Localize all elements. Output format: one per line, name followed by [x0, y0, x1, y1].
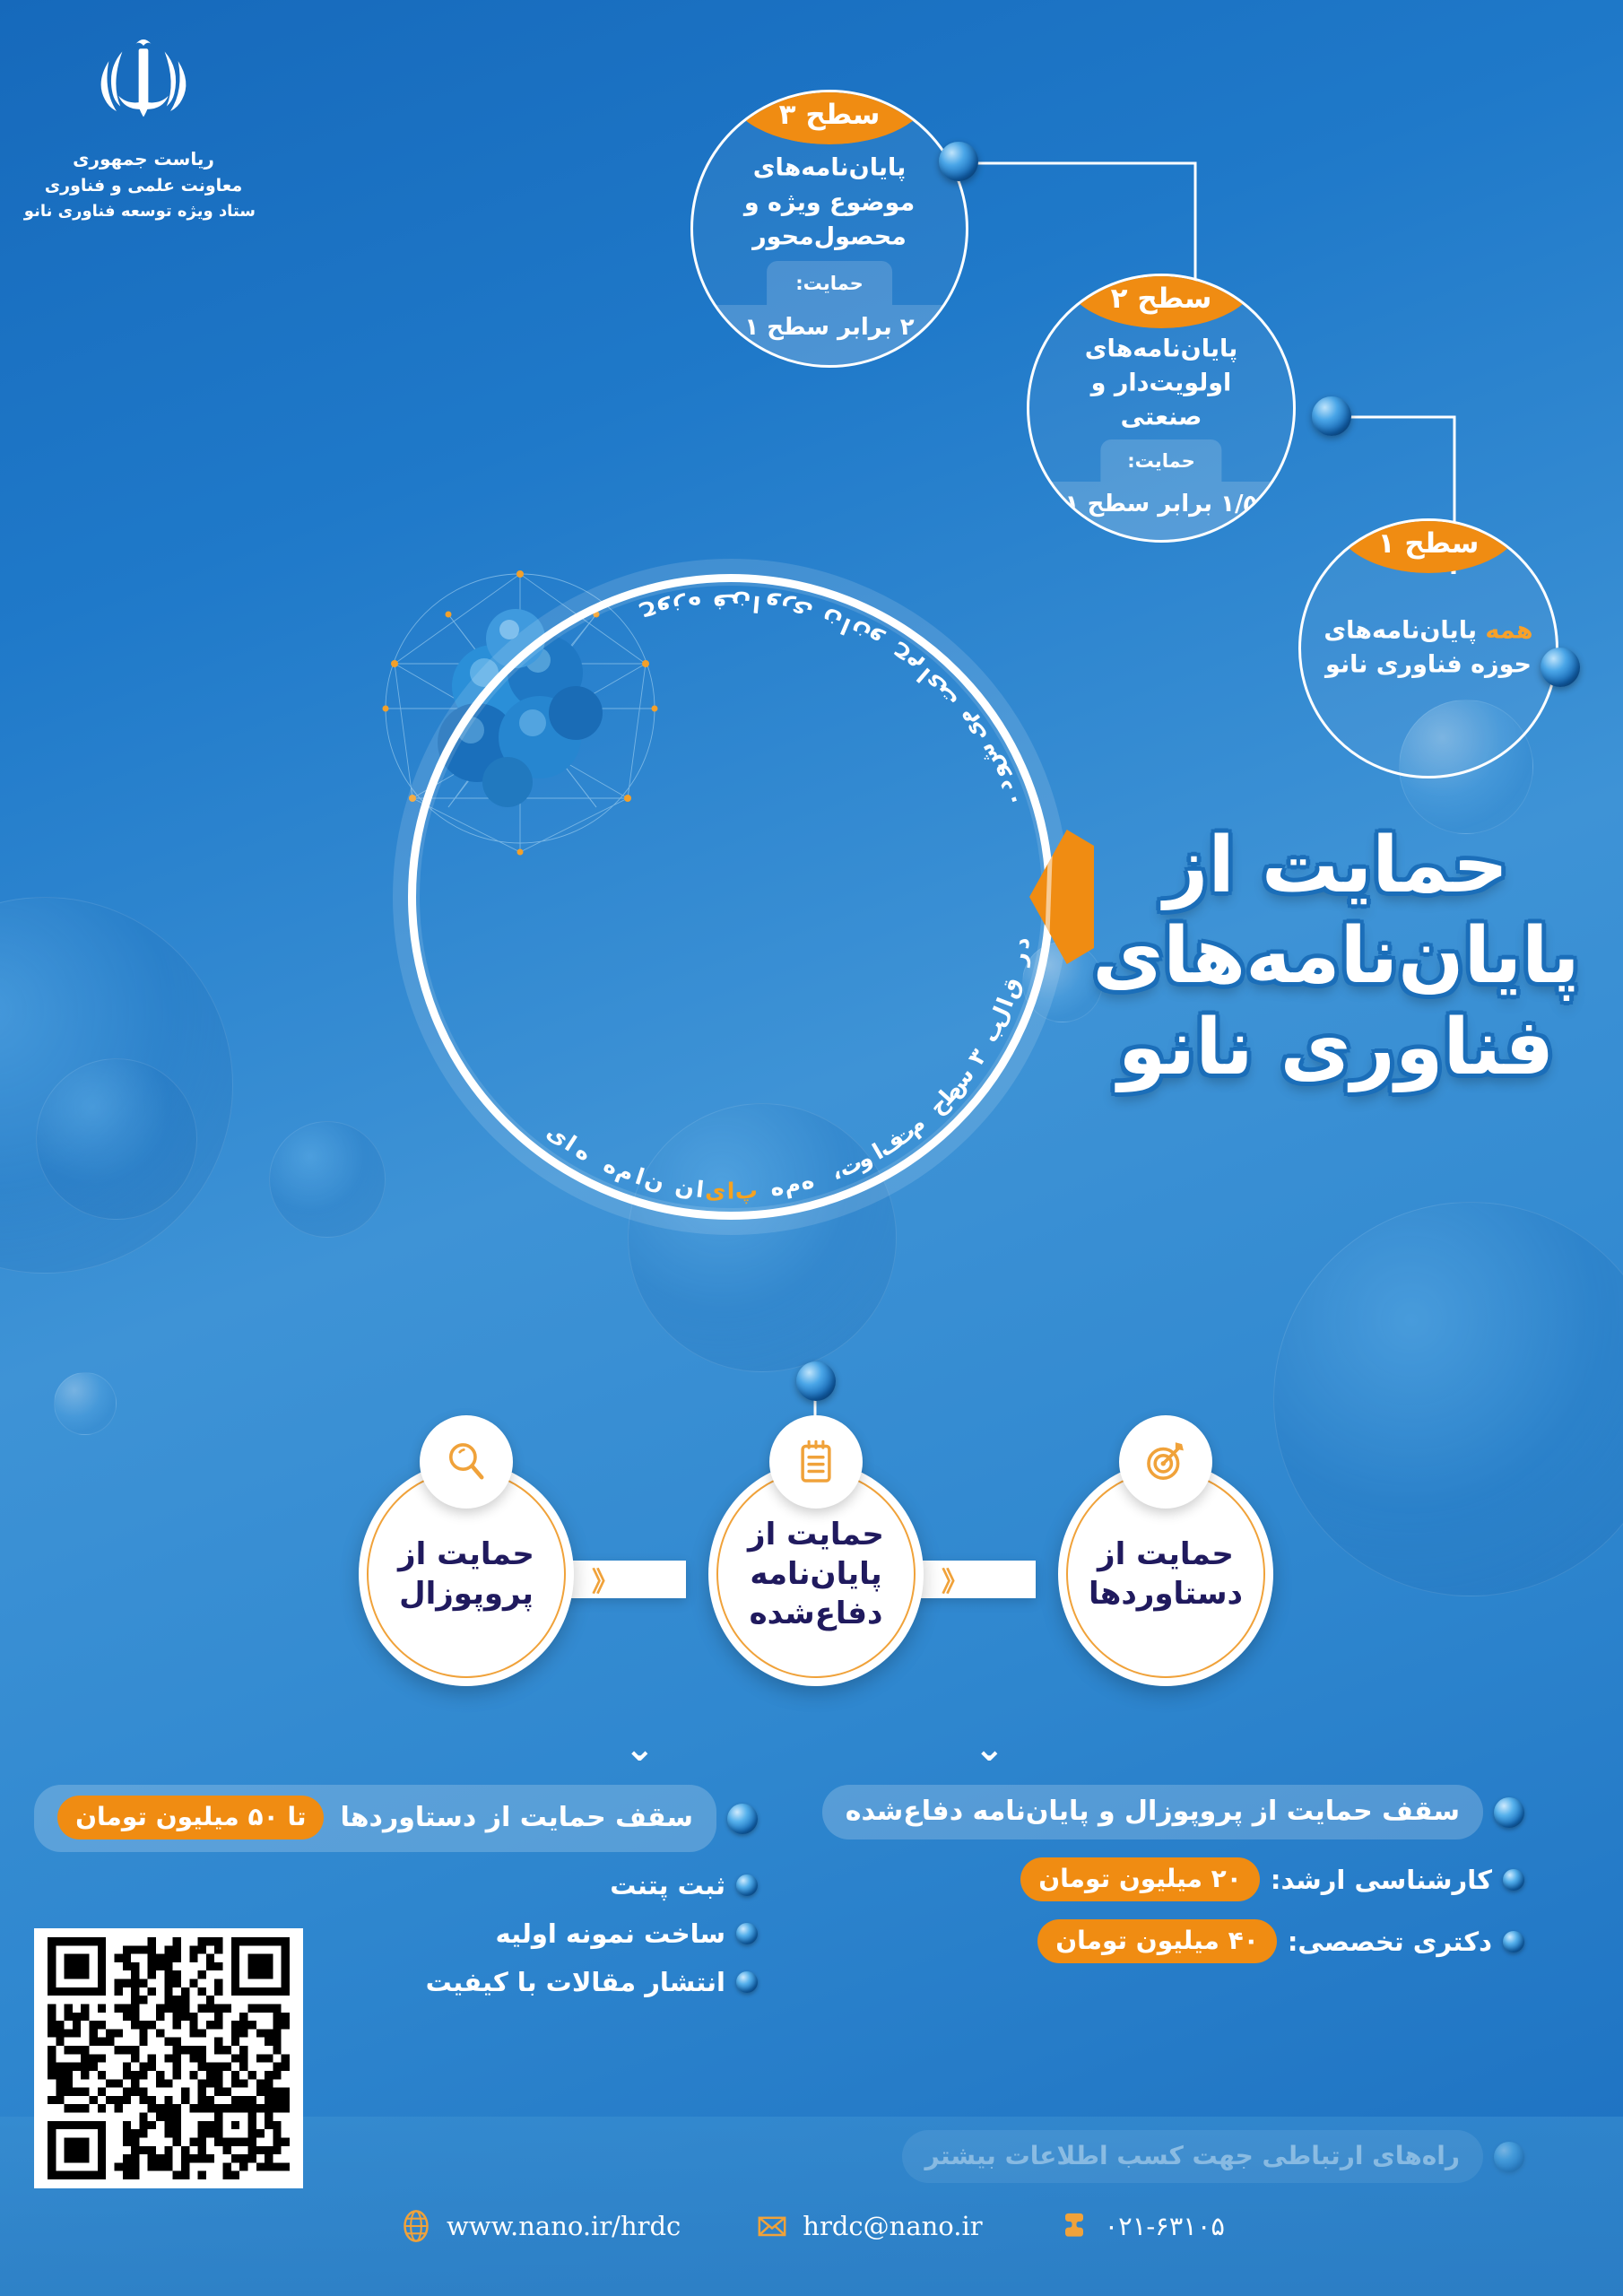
contact-email[interactable]: hrdc@nano.ir — [754, 2208, 982, 2244]
bullet-ball-icon — [1503, 1869, 1524, 1891]
level-2-title: پایان‌نامه‌های اولویت‌دار و صنعتی — [1051, 332, 1272, 435]
contact-phone[interactable]: ۰۲۱-۶۳۱۰۵ — [1056, 2208, 1225, 2244]
level-1-badge: سطح ۱ — [1334, 519, 1523, 573]
level-3-support-label: حمایت: — [767, 261, 892, 305]
bubble-decoration — [0, 897, 233, 1274]
process-step-achievements-label: حمایت از دستاوردها — [1058, 1535, 1273, 1613]
achievement-item-label: ثبت پتنت — [610, 1870, 725, 1900]
level-2-circle[interactable]: سطح ۲ پایان‌نامه‌های اولویت‌دار و صنعتی … — [1027, 274, 1296, 543]
support-cap-row: کارشناسی ارشد: ۲۰ میلیون تومان — [807, 1857, 1524, 1901]
chevron-left-icon: 《 — [942, 1560, 968, 1599]
level-3-node — [939, 142, 978, 181]
clipboard-icon-glyph — [791, 1437, 841, 1487]
support-cap-achievements-header: سقف حمایت از دستاوردها تا ۵۰ میلیون توما… — [34, 1785, 716, 1852]
phone-icon — [1056, 2208, 1092, 2244]
globe-icon — [398, 2208, 434, 2244]
bullet-ball-icon — [1494, 1797, 1524, 1828]
bullet-ball-icon — [736, 1874, 758, 1896]
contact-website-value: www.nano.ir/hrdc — [447, 2211, 681, 2241]
level-3-support-value: ۲ برابر سطح ۱ — [693, 305, 966, 365]
level-3-badge: سطح ۳ — [729, 91, 931, 144]
contact-phone-value: ۰۲۱-۶۳۱۰۵ — [1105, 2211, 1225, 2241]
support-cap-proposal-header-row: سقف حمایت از پروپوزال و پایان‌نامه دفاع‌… — [807, 1785, 1524, 1839]
support-cap-phd-label: دکتری تخصصی: — [1288, 1926, 1492, 1957]
achievement-item-label: انتشار مقالات با کیفیت — [426, 1967, 725, 1997]
contact-email-value: hrdc@nano.ir — [803, 2211, 982, 2241]
magnifier-icon — [420, 1415, 513, 1509]
process-step-proposal[interactable]: حمایت از پروپوزال — [359, 1462, 574, 1686]
level-3-title: پایان‌نامه‌های موضوع ویژه و محصول‌محور — [715, 152, 943, 255]
level-3-circle[interactable]: سطح ۳ پایان‌نامه‌های موضوع ویژه و محصول‌… — [690, 90, 968, 368]
chevron-down-icon: ⌄ — [974, 1731, 1004, 1767]
support-cap-achievements-header-row: سقف حمایت از دستاوردها تا ۵۰ میلیون توما… — [112, 1785, 758, 1852]
clipboard-icon — [769, 1415, 863, 1509]
achievement-item-label: ساخت نمونه اولیه — [496, 1918, 725, 1949]
process-step-defended-thesis-label: حمایت از پایان‌نامه دفاع‌شده — [708, 1515, 924, 1634]
qr-code-image — [43, 1937, 294, 2179]
level-1-title: همه پایان‌نامه‌های حوزه فناوری نانو — [1322, 614, 1536, 683]
support-cap-achievements-amount: تا ۵۰ میلیون تومان — [57, 1796, 324, 1839]
qr-code[interactable] — [34, 1928, 303, 2188]
bullet-ball-icon — [736, 1971, 758, 1993]
bullet-ball-icon — [736, 1923, 758, 1944]
bubble-decoration — [269, 1121, 386, 1238]
process-step-achievements[interactable]: حمایت از دستاوردها — [1058, 1462, 1273, 1686]
level-2-support-label: حمایت: — [1100, 439, 1221, 482]
support-cap-masters-label: کارشناسی ارشد: — [1271, 1865, 1492, 1895]
support-cap-row: دکتری تخصصی: ۴۰ میلیون تومان — [807, 1919, 1524, 1963]
level-2-support-value: ۱/۵ برابر سطح ۱ — [1029, 482, 1293, 540]
magnifier-icon-glyph — [440, 1436, 492, 1488]
contact-list: www.nano.ir/hrdc hrdc@nano.ir ۰۲۱-۶۳۱۰۵ — [0, 2208, 1623, 2244]
chevron-left-icon: 《 — [592, 1560, 619, 1599]
bubble-decoration — [36, 1058, 197, 1220]
contact-website[interactable]: www.nano.ir/hrdc — [398, 2208, 681, 2244]
ring-curved-text: حوزه فناوری نانو حمایت می‌شود.در قالب ۳ … — [408, 574, 1054, 1220]
chevron-down-icon: ⌄ — [624, 1731, 655, 1767]
level-1-title-highlight: همه — [1485, 617, 1532, 645]
process-flow: 《 《 حمایت از پروپوزال — [0, 1462, 1623, 1713]
support-cap-proposal-header: سقف حمایت از پروپوزال و پایان‌نامه دفاع‌… — [822, 1785, 1483, 1839]
title-line-3: فناوری نانو — [1049, 1003, 1623, 1093]
level-2-badge: سطح ۲ — [1063, 274, 1259, 328]
process-step-defended-thesis[interactable]: حمایت از پایان‌نامه دفاع‌شده — [708, 1462, 924, 1686]
level-2-node — [1312, 396, 1351, 436]
level-1-circle[interactable]: سطح ۱ همه پایان‌نامه‌های حوزه فناوری نان… — [1298, 518, 1558, 778]
level-1-node — [1541, 648, 1580, 687]
support-cap-proposal-column: سقف حمایت از پروپوزال و پایان‌نامه دفاع‌… — [807, 1785, 1524, 1963]
achievement-item: ثبت پتنت — [112, 1870, 758, 1900]
process-top-node — [796, 1361, 836, 1401]
target-icon-glyph — [1140, 1436, 1192, 1488]
poster-root: ریاست جمهوری معاونت علمی و فناوری ستاد و… — [0, 0, 1623, 2296]
process-step-proposal-label: حمایت از پروپوزال — [359, 1535, 574, 1613]
level-2-support: حمایت: ۱/۵ برابر سطح ۱ — [1029, 439, 1293, 540]
support-cap-masters-amount: ۲۰ میلیون تومان — [1020, 1857, 1260, 1901]
bubble-decoration — [54, 1372, 117, 1435]
target-icon — [1119, 1415, 1212, 1509]
level-3-support: حمایت: ۲ برابر سطح ۱ — [693, 261, 966, 365]
support-cap-achievements-header-text: سقف حمایت از دستاوردها — [340, 1802, 693, 1833]
bullet-ball-icon — [1503, 1931, 1524, 1952]
bullet-ball-icon — [727, 1804, 758, 1834]
title-line-2: پایان‌نامه‌های — [1049, 911, 1623, 1002]
email-icon — [754, 2208, 790, 2244]
support-cap-phd-amount: ۴۰ میلیون تومان — [1037, 1919, 1277, 1963]
